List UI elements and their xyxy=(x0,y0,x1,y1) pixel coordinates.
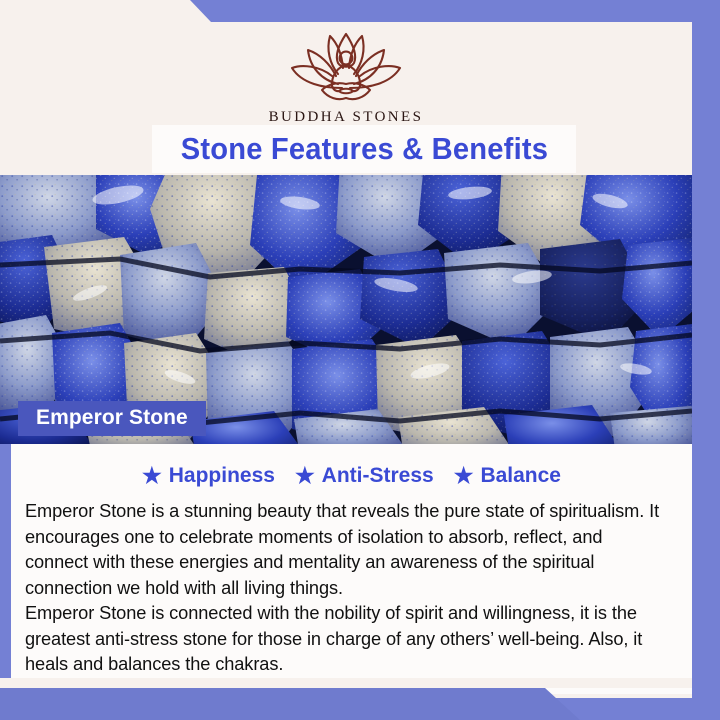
brand-name: BUDDHA STONES xyxy=(269,109,424,126)
poster-root: BUDDHA STONES Stone Features & Benefits xyxy=(0,0,720,720)
stone-name-badge: Emperor Stone xyxy=(18,401,206,436)
benefit-balance: ★ Balance xyxy=(454,464,561,488)
benefit-label: Balance xyxy=(480,464,561,488)
star-icon: ★ xyxy=(295,465,315,487)
left-blue-rail xyxy=(0,444,11,694)
stone-photo: Emperor Stone xyxy=(0,173,692,444)
star-icon: ★ xyxy=(454,465,474,487)
title-plate: Stone Features & Benefits xyxy=(152,125,576,173)
bottom-blue-band xyxy=(0,688,580,720)
brand-logo-group: BUDDHA STONES xyxy=(0,28,692,126)
benefits-row: ★ Happiness ★ Anti-Stress ★ Balance xyxy=(25,464,678,488)
benefit-label: Happiness xyxy=(169,464,275,488)
benefit-anti-stress: ★ Anti-Stress xyxy=(295,464,434,488)
page-title: Stone Features & Benefits xyxy=(180,131,547,167)
benefit-label: Anti-Stress xyxy=(322,464,434,488)
bottom-cream-strip xyxy=(0,678,692,688)
content-panel: ★ Happiness ★ Anti-Stress ★ Balance Empe… xyxy=(11,444,692,694)
benefit-happiness: ★ Happiness xyxy=(142,464,275,488)
description-paragraph-1: Emperor Stone is a stunning beauty that … xyxy=(25,498,668,600)
lotus-meditation-icon xyxy=(272,28,420,108)
description-paragraph-2: Emperor Stone is connected with the nobi… xyxy=(25,600,668,677)
star-icon: ★ xyxy=(142,465,162,487)
description-block: Emperor Stone is a stunning beauty that … xyxy=(25,498,678,677)
